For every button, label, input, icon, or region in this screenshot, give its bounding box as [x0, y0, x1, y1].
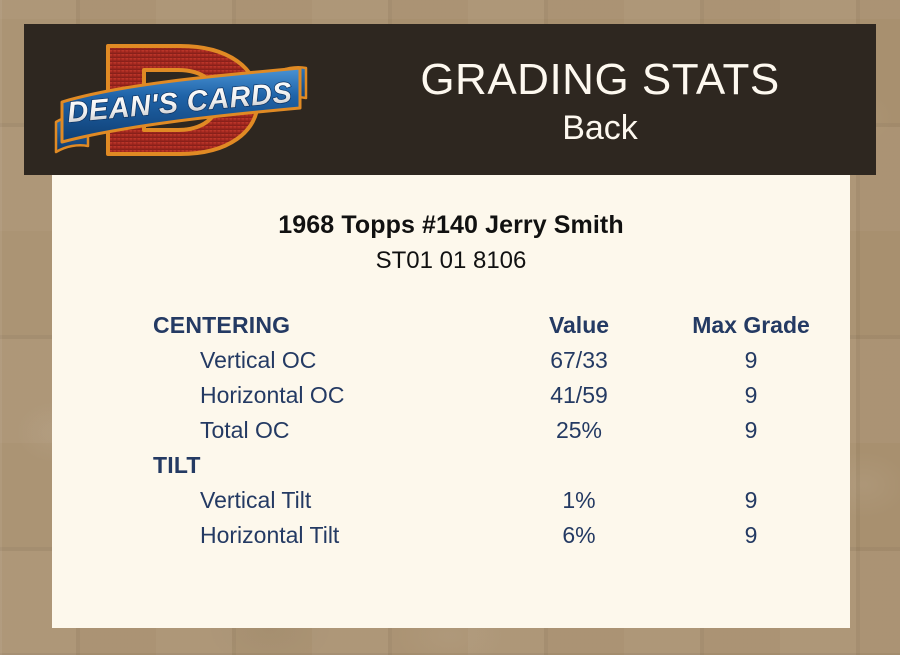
row-label: Total OC [200, 413, 289, 448]
row-value: 25% [504, 413, 654, 448]
row-max-grade: 9 [676, 518, 826, 553]
table-row: Vertical Tilt 1% 9 [153, 483, 853, 518]
table-row: Horizontal Tilt 6% 9 [153, 518, 853, 553]
header-title-block: GRADING STATS Back [324, 24, 876, 175]
deans-cards-logo[interactable]: DEAN'S CARDS [52, 30, 310, 170]
section-heading-tilt: TILT [153, 448, 201, 483]
header-bar: DEAN'S CARDS GRADING STATS Back [24, 24, 876, 175]
table-row: Total OC 25% 9 [153, 413, 853, 448]
table-row: Horizontal OC 41/59 9 [153, 378, 853, 413]
row-label: Horizontal Tilt [200, 518, 339, 553]
page-subtitle: Back [562, 110, 638, 147]
grading-stats-table: CENTERING Value Max Grade Vertical OC 67… [153, 308, 853, 553]
card-id: ST01 01 8106 [52, 247, 850, 275]
row-max-grade: 9 [676, 413, 826, 448]
table-header-row: CENTERING Value Max Grade [153, 308, 853, 343]
row-max-grade: 9 [676, 483, 826, 518]
row-value: 6% [504, 518, 654, 553]
grading-stats-page: DEAN'S CARDS GRADING STATS Back 1968 Top… [0, 0, 900, 655]
row-value: 1% [504, 483, 654, 518]
row-label: Horizontal OC [200, 378, 344, 413]
column-header-value: Value [504, 308, 654, 343]
column-header-max-grade: Max Grade [676, 308, 826, 343]
row-label: Vertical Tilt [200, 483, 311, 518]
row-max-grade: 9 [676, 343, 826, 378]
card-title: 1968 Topps #140 Jerry Smith [52, 211, 850, 240]
content-panel: 1968 Topps #140 Jerry Smith ST01 01 8106… [52, 175, 850, 628]
row-value: 41/59 [504, 378, 654, 413]
table-row: Vertical OC 67/33 9 [153, 343, 853, 378]
table-section-row: TILT [153, 448, 853, 483]
page-title: GRADING STATS [420, 57, 779, 104]
row-max-grade: 9 [676, 378, 826, 413]
row-label: Vertical OC [200, 343, 316, 378]
section-heading-centering: CENTERING [153, 308, 290, 343]
row-value: 67/33 [504, 343, 654, 378]
